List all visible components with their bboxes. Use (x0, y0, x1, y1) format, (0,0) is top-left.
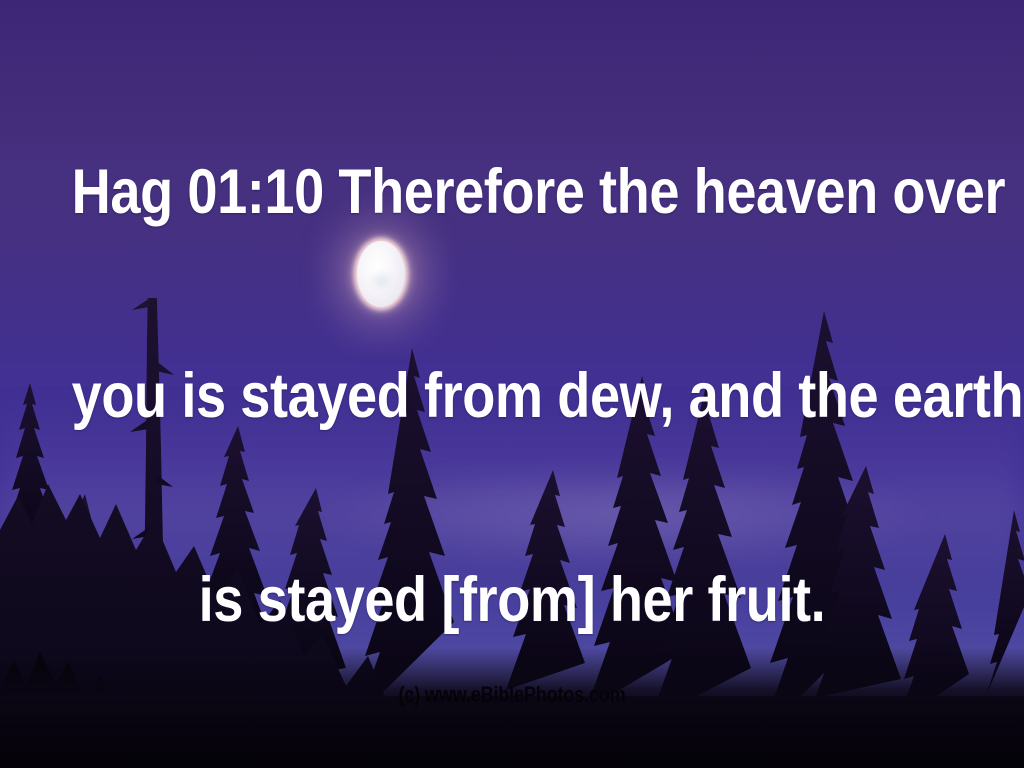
verse-line-1: Hag 01:10 Therefore the heaven over (72, 158, 953, 226)
verse-text-overlay: Hag 01:10 Therefore the heaven over you … (72, 22, 953, 768)
verse-line-3: is stayed [from] her fruit. (72, 566, 953, 634)
verse-line-2: you is stayed from dew, and the earth (72, 362, 953, 430)
verse-photo-canvas: Hag 01:10 Therefore the heaven over you … (0, 0, 1024, 768)
copyright-watermark: (c) www.eBiblePhotos.com (92, 684, 932, 706)
